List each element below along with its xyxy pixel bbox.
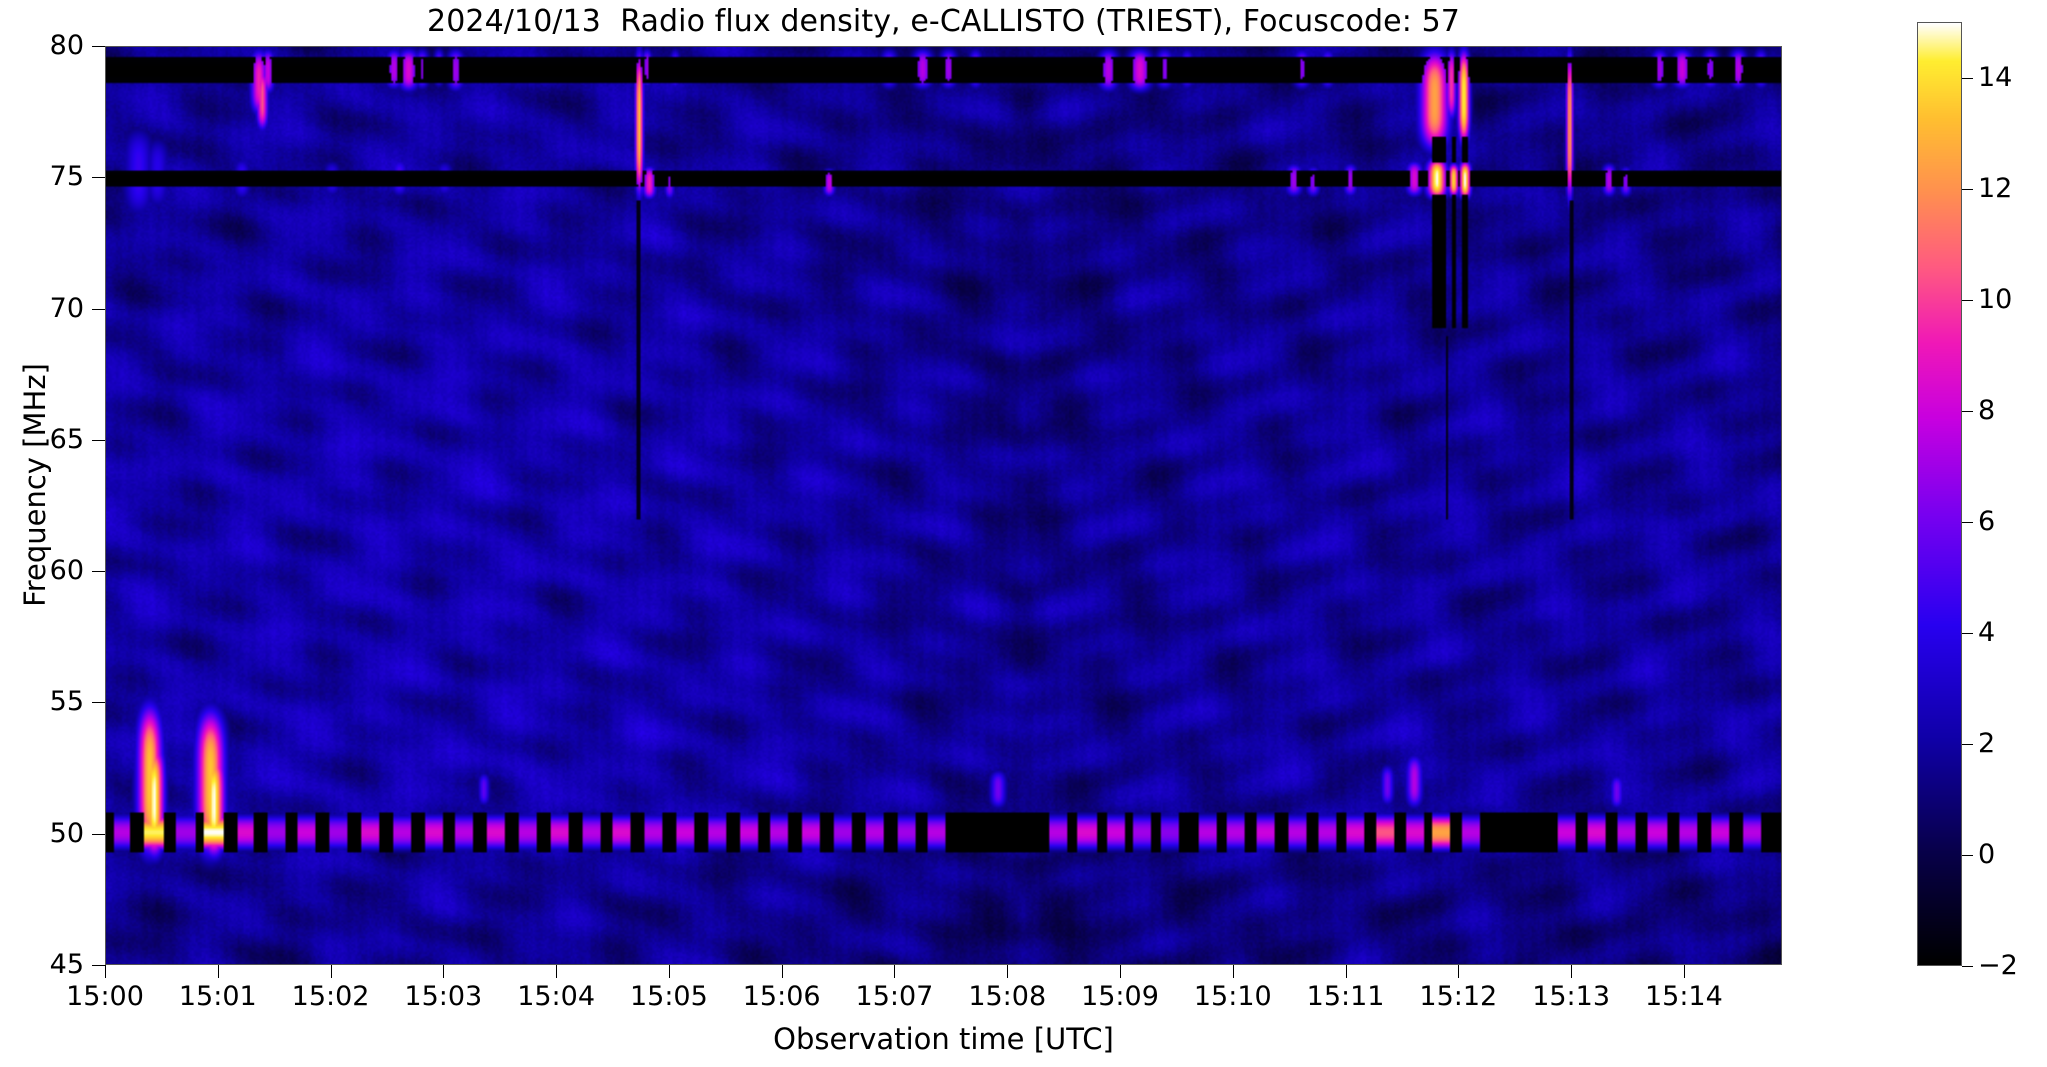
colorbar-tick-label: 8 — [1978, 397, 1995, 424]
colorbar-tick-mark — [1962, 966, 1973, 967]
colorbar-tick-label: −2 — [1978, 952, 2018, 979]
colorbar-tick-mark — [1962, 744, 1973, 745]
colorbar-tick-mark — [1962, 855, 1973, 856]
colorbar-tick-mark — [1962, 300, 1973, 301]
colorbar-tick-label: 0 — [1978, 841, 1995, 868]
colorbar-axis: 14121086420−2 — [0, 0, 2047, 1067]
colorbar-tick-label: 6 — [1978, 508, 1995, 535]
spectrogram-figure: 2024/10/13 Radio flux density, e-CALLIST… — [0, 0, 2047, 1067]
colorbar-tick-mark — [1962, 78, 1973, 79]
colorbar-tick-mark — [1962, 522, 1973, 523]
colorbar-tick-label: 14 — [1978, 64, 2012, 91]
colorbar-tick-label: 4 — [1978, 619, 1995, 646]
colorbar-tick-mark — [1962, 411, 1973, 412]
colorbar-tick-label: 10 — [1978, 286, 2012, 313]
colorbar-tick-mark — [1962, 189, 1973, 190]
colorbar-tick-mark — [1962, 633, 1973, 634]
colorbar-tick-label: 12 — [1978, 175, 2012, 202]
colorbar-tick-label: 2 — [1978, 730, 1995, 757]
